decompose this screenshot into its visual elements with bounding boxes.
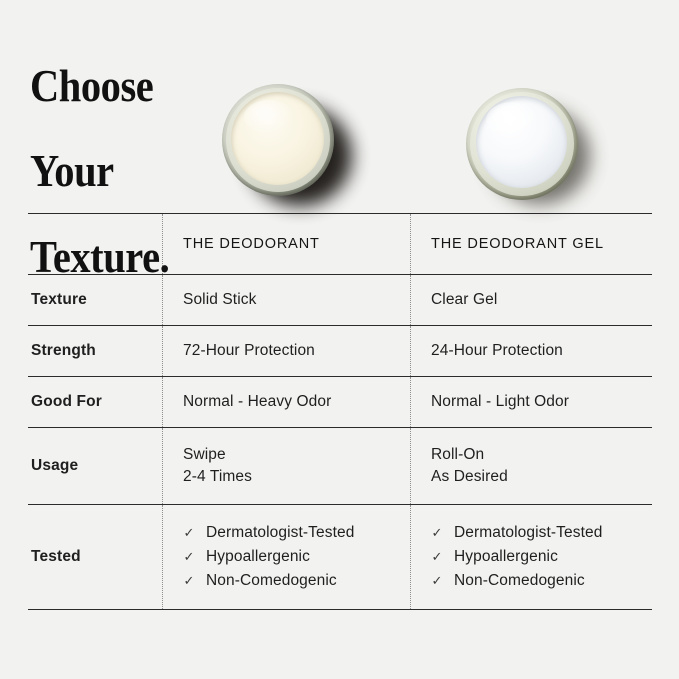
table-row: Good For Normal - Heavy Odor Normal - Li…: [28, 376, 652, 427]
header-deodorant-gel-text: THE DEODORANT GEL: [410, 214, 652, 274]
row-label-strength: Strength: [28, 325, 162, 376]
cell-good-for-deodorant: Normal - Heavy Odor: [162, 376, 410, 427]
list-item: ✓ Hypoallergenic: [183, 545, 410, 569]
check-icon: ✓: [431, 547, 443, 567]
list-item: ✓ Non-Comedogenic: [183, 569, 410, 593]
deodorant-gel-jar: [466, 88, 578, 200]
list-item: ✓ Hypoallergenic: [431, 545, 652, 569]
header-deodorant-text: THE DEODORANT: [162, 214, 410, 274]
check-icon: ✓: [183, 523, 195, 543]
cell-tested-deodorant: ✓ Dermatologist-Tested ✓ Hypoallergenic …: [162, 504, 410, 610]
row-label-tested-text: Tested: [28, 530, 162, 584]
headline-line-1: Choose: [30, 65, 169, 108]
row-label-strength-text: Strength: [28, 326, 162, 376]
cell-good-for-deodorant-text: Normal - Heavy Odor: [162, 377, 410, 427]
check-icon: ✓: [431, 571, 443, 591]
cell-strength-gel: 24-Hour Protection: [410, 325, 652, 376]
tested-item-text: Dermatologist-Tested: [454, 521, 602, 545]
cell-usage-deodorant-text: Swipe 2-4 Times: [162, 428, 410, 504]
cell-texture-gel: Clear Gel: [410, 274, 652, 325]
cell-texture-gel-text: Clear Gel: [410, 275, 652, 325]
cell-usage-deodorant: Swipe 2-4 Times: [162, 427, 410, 504]
row-label-tested: Tested: [28, 504, 162, 610]
table-row: Tested ✓ Dermatologist-Tested ✓ Hypoalle…: [28, 504, 652, 610]
tested-item-text: Hypoallergenic: [206, 545, 310, 569]
tested-item-text: Dermatologist-Tested: [206, 521, 354, 545]
header-cell-deodorant-gel: THE DEODORANT GEL: [410, 214, 652, 275]
cell-good-for-gel-text: Normal - Light Odor: [410, 377, 652, 427]
cell-texture-deodorant-text: Solid Stick: [162, 275, 410, 325]
cell-texture-deodorant: Solid Stick: [162, 274, 410, 325]
row-label-usage: Usage: [28, 427, 162, 504]
gel-product-surface: [476, 96, 567, 188]
header-cell-deodorant: THE DEODORANT: [162, 214, 410, 275]
tested-item-text: Hypoallergenic: [454, 545, 558, 569]
list-item: ✓ Dermatologist-Tested: [183, 521, 410, 545]
cell-usage-gel: Roll-On As Desired: [410, 427, 652, 504]
gel-jar-body: [466, 88, 578, 200]
headline-line-2: Your: [30, 150, 169, 193]
tested-list-gel: ✓ Dermatologist-Tested ✓ Hypoallergenic …: [431, 521, 652, 594]
tested-list-deodorant: ✓ Dermatologist-Tested ✓ Hypoallergenic …: [183, 521, 410, 594]
check-icon: ✓: [183, 571, 195, 591]
page-title: Choose Your Texture.: [30, 22, 169, 321]
list-item: ✓ Non-Comedogenic: [431, 569, 652, 593]
stick-jar-body: [222, 84, 334, 196]
cell-good-for-gel: Normal - Light Odor: [410, 376, 652, 427]
tested-item-text: Non-Comedogenic: [454, 569, 585, 593]
cell-strength-gel-text: 24-Hour Protection: [410, 326, 652, 376]
table-row: Strength 72-Hour Protection 24-Hour Prot…: [28, 325, 652, 376]
cell-strength-deodorant: 72-Hour Protection: [162, 325, 410, 376]
row-label-usage-text: Usage: [28, 439, 162, 493]
headline-line-3: Texture.: [30, 236, 169, 279]
cell-strength-deodorant-text: 72-Hour Protection: [162, 326, 410, 376]
tested-item-text: Non-Comedogenic: [206, 569, 337, 593]
check-icon: ✓: [431, 523, 443, 543]
table-row: Usage Swipe 2-4 Times Roll-On As Desired: [28, 427, 652, 504]
cell-tested-gel: ✓ Dermatologist-Tested ✓ Hypoallergenic …: [410, 504, 652, 610]
list-item: ✓ Dermatologist-Tested: [431, 521, 652, 545]
deodorant-stick-jar: [222, 84, 334, 196]
row-label-good-for: Good For: [28, 376, 162, 427]
cell-usage-gel-text: Roll-On As Desired: [410, 428, 652, 504]
row-label-good-for-text: Good For: [28, 377, 162, 427]
stick-product-surface: [231, 92, 324, 185]
check-icon: ✓: [183, 547, 195, 567]
